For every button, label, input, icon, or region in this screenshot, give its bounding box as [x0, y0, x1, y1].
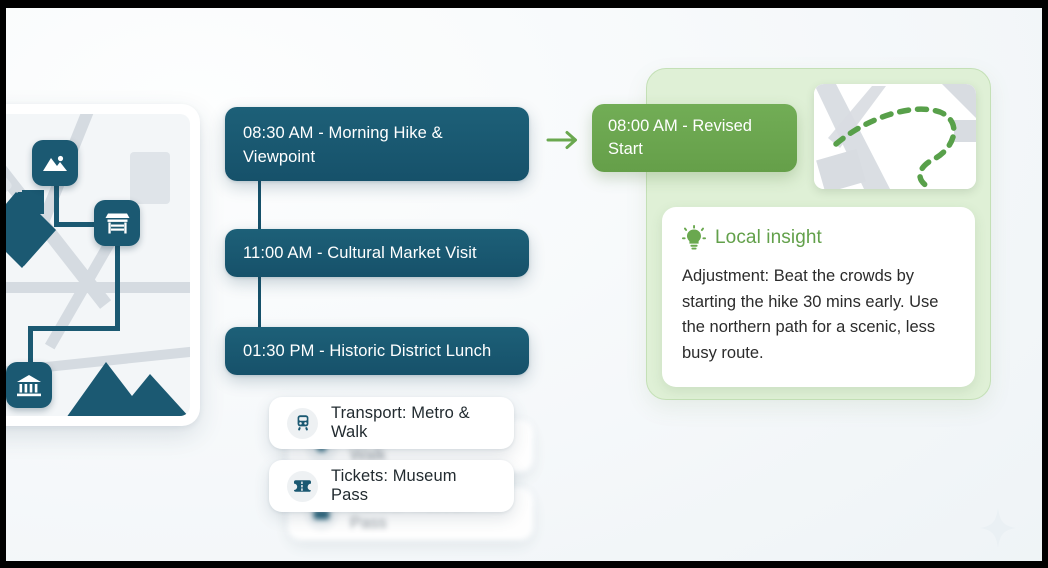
screenshot-frame: 08:30 AM - Morning Hike & Viewpoint 11:0…: [0, 0, 1048, 568]
timeline-item-1[interactable]: 08:30 AM - Morning Hike & Viewpoint: [225, 107, 529, 181]
ticket-icon: [287, 471, 318, 502]
map-road: [6, 282, 190, 293]
local-insight-card: Local insight Adjustment: Beat the crowd…: [662, 207, 975, 387]
map-surface: [6, 114, 190, 416]
map-poi-museum[interactable]: [6, 362, 52, 408]
revised-start-card[interactable]: 08:00 AM - Revised Start: [592, 104, 797, 172]
timeline-item-2[interactable]: 11:00 AM - Cultural Market Visit: [225, 229, 529, 277]
timeline-connector: [258, 178, 261, 230]
chip-label-tickets: Tickets: Museum Pass: [331, 467, 496, 505]
market-stall-icon: [104, 212, 131, 235]
map-mountain-decor: [66, 354, 190, 416]
insight-body-text: Adjustment: Beat the crowds by starting …: [682, 264, 955, 366]
map-block: [130, 152, 170, 204]
chip-transport[interactable]: Transport: Metro & Walk: [269, 397, 514, 449]
train-icon: [287, 408, 318, 439]
map-route: [28, 326, 120, 331]
sparkle-icon: [978, 506, 1018, 550]
map-poi-market[interactable]: [94, 200, 140, 246]
revised-route-thumbnail[interactable]: [814, 84, 976, 189]
insight-title: Local insight: [715, 227, 822, 249]
chip-tickets[interactable]: Tickets: Museum Pass: [269, 460, 514, 512]
lightbulb-icon: [682, 225, 706, 251]
mountain-icon: [42, 153, 68, 173]
insight-header: Local insight: [682, 225, 955, 251]
timeline-connector: [258, 276, 261, 328]
timeline-item-3[interactable]: 01:30 PM - Historic District Lunch: [225, 327, 529, 375]
illustration-canvas: 08:30 AM - Morning Hike & Viewpoint 11:0…: [6, 8, 1042, 561]
museum-bank-icon: [16, 374, 42, 397]
arrow-right-icon: [546, 126, 582, 154]
map-poi-viewpoint[interactable]: [32, 140, 78, 186]
mini-map-surface: [814, 84, 976, 189]
chip-label-transport: Transport: Metro & Walk: [331, 404, 496, 442]
route-map-card[interactable]: [6, 104, 200, 426]
